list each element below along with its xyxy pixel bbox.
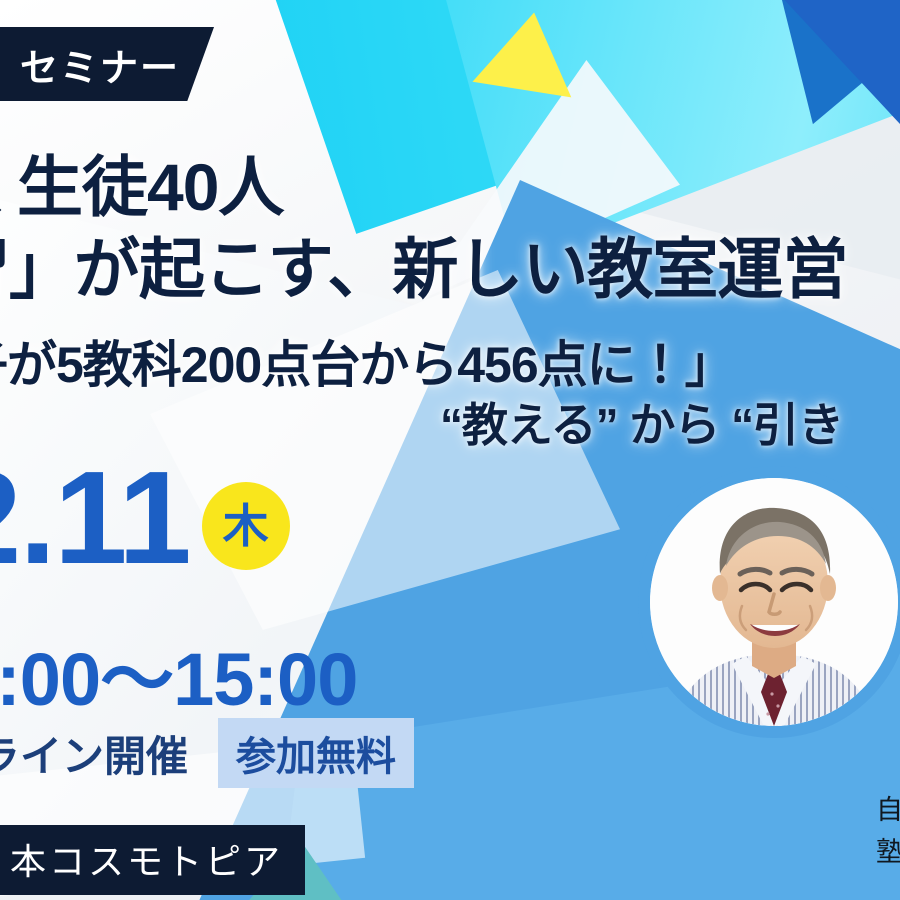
event-time: 4:00〜15:00 <box>0 620 357 727</box>
weekday-label: 木 <box>223 503 269 549</box>
background-blue-triangle-top-secondary <box>782 0 900 193</box>
speaker-info-line-2: 塾 <box>876 832 900 874</box>
headline-line-2: 習」が起こす、新しい教室運営 <box>0 216 847 312</box>
seminar-tag-label: セミナー <box>20 37 180 92</box>
event-format-label: ンライン開催 <box>0 723 188 784</box>
headline-line-4: “教える” から “引き <box>440 389 843 455</box>
company-name-bar: 本コスモトピア <box>0 825 305 895</box>
speaker-info: 自 塾 <box>876 790 900 874</box>
background-blue-triangle-top <box>670 0 900 170</box>
event-date: 2.11 木 <box>0 452 290 584</box>
yellow-triangle-icon <box>473 5 584 98</box>
seminar-poster: セミナー く生徒40人 習」が起こす、新しい教室運営 子が5教科200点台から4… <box>0 0 900 900</box>
speaker-portrait <box>650 478 898 726</box>
event-format-row: ンライン開催 参加無料 <box>0 718 414 788</box>
headline-line-3: 子が5教科200点台から456点に！」 <box>0 325 734 397</box>
free-admission-badge: 参加無料 <box>218 718 414 788</box>
speaker-info-line-1: 自 <box>876 790 900 832</box>
event-date-value: 2.11 <box>0 452 190 584</box>
seminar-tag-banner: セミナー <box>0 27 214 101</box>
background-cyan-band <box>200 0 900 234</box>
speaker-avatar-icon <box>650 478 898 726</box>
weekday-badge: 木 <box>202 482 290 570</box>
